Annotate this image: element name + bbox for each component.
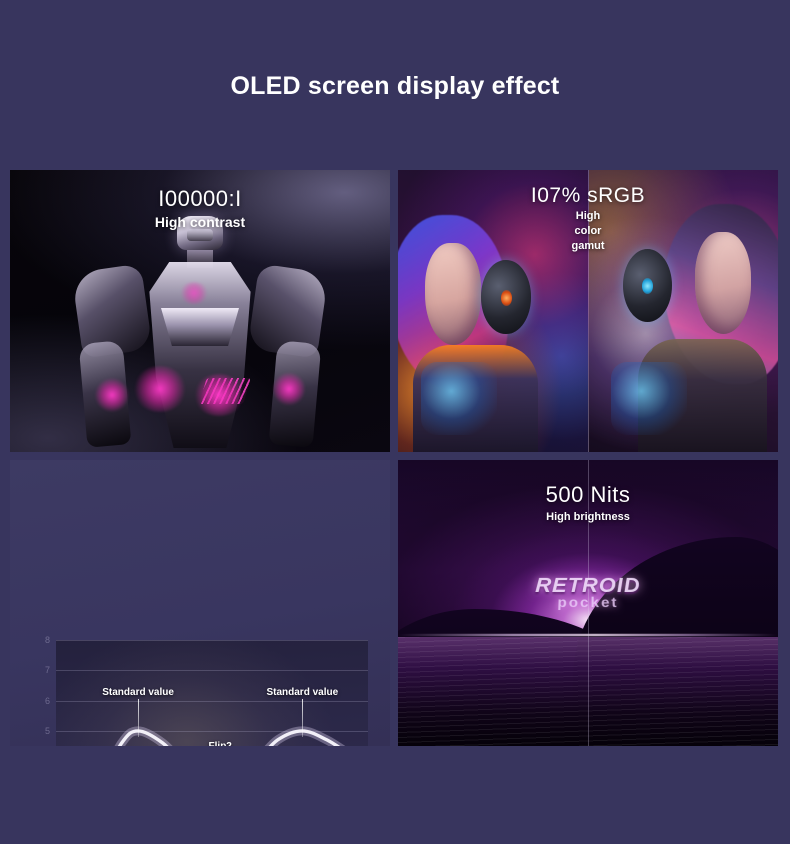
chart-annotation-marker [302,699,303,737]
panel-high-contrast: I00000:I High contrast [10,170,390,452]
panel-color-gamut: I07% sRGB High color gamut [398,170,778,452]
chart-y-tick-label: 6 [45,696,50,706]
chart-annotation-label: Flip2 [209,741,232,746]
portrait-face [695,232,752,334]
brightness-headline: 500 Nits [546,482,631,508]
srgb-subtitle-line2: color [531,225,645,238]
panel-low-power: Low power consumption 87654321102030Stan… [10,460,390,746]
srgb-subtitle-line3: gamut [531,240,645,253]
power-title-line1: Low power [10,460,200,479]
robot-glow-accent [273,372,305,406]
portrait-headset [481,260,530,333]
robot-visor [187,229,213,241]
portrait-tech-glow [421,362,497,435]
chart-y-tick-label: 7 [45,665,50,675]
srgb-headline: I07% sRGB [531,184,645,208]
feature-panel-grid: I00000:I High contrast I07% sRGB High [10,170,778,746]
robot-glow-accent [133,366,187,412]
panel-brightness: RETROID pocket 500 Nits High brightness [398,460,778,746]
robot-chest-plate [161,308,239,346]
retroid-pocket-logo: RETROID pocket [534,574,642,611]
portrait-face [425,243,482,345]
headset-led-icon [642,278,653,294]
brightness-caption: 500 Nits High brightness [546,482,631,523]
robot-glow-accent [179,282,209,304]
srgb-subtitle-line1: High [531,210,645,223]
chart-annotation-label: Standard value [266,687,338,698]
power-consumption-chart: 87654321102030Standard valueFlip2Standar… [56,640,368,746]
power-title: Low power consumption [10,460,200,498]
contrast-subtitle: High contrast [155,214,245,230]
chart-y-tick-label: 8 [45,635,50,645]
robot-glow-accent [95,378,129,412]
chart-y-tick-label: 5 [45,726,50,736]
chart-annotation-label: Standard value [102,687,174,698]
portrait-headset [623,249,672,322]
brightness-subtitle: High brightness [546,511,631,523]
contrast-caption: I00000:I High contrast [155,186,245,230]
page-title: OLED screen display effect [0,72,790,101]
robot-glow-accent [193,374,245,416]
chart-annotation-marker [138,699,139,737]
srgb-caption: I07% sRGB High color gamut [531,184,645,253]
headset-led-icon [501,290,512,306]
mech-robot-illustration [75,216,325,452]
portrait-tech-glow [611,362,687,435]
contrast-headline: I00000:I [155,186,245,212]
power-title-line2: consumption [10,479,200,498]
